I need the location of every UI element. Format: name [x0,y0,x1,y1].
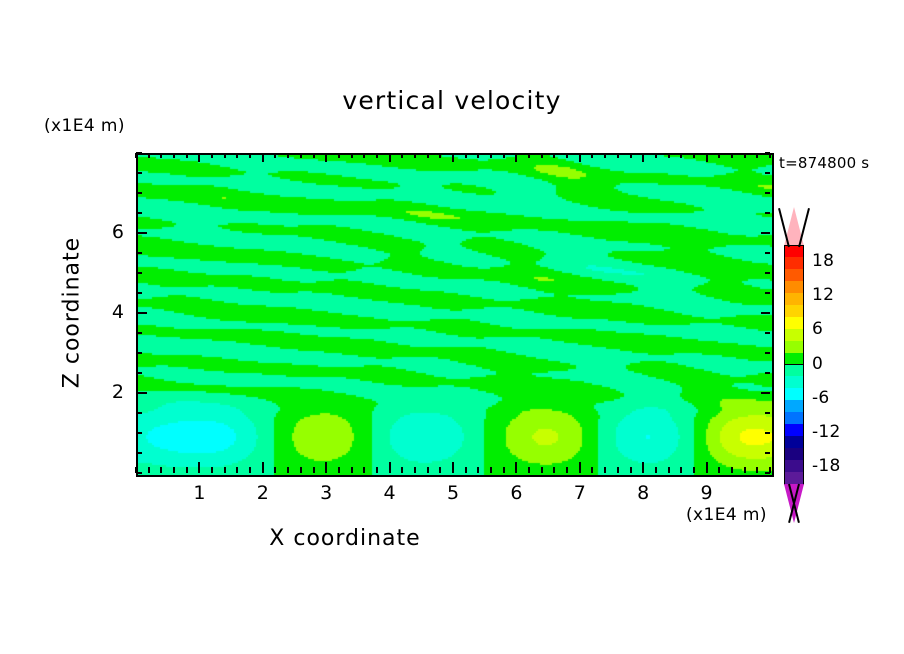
x-minor-tick [186,467,188,473]
x-minor-tick [173,467,175,473]
x-minor-tick [718,467,720,473]
x-minor-tick-top [744,153,746,158]
y-minor-tick [136,252,142,254]
x-minor-tick [274,467,276,473]
page-title: vertical velocity [0,86,904,115]
x-minor-tick [338,467,340,473]
x-minor-tick-top [617,153,619,158]
x-minor-tick-top [427,153,429,158]
x-minor-tick [553,467,555,473]
x-minor-tick-top [477,153,479,158]
y-major-tick-right [761,392,770,394]
x-minor-tick-top [211,153,213,158]
x-minor-tick [300,467,302,473]
y-minor-tick-right [765,272,770,274]
y-minor-tick [136,332,142,334]
x-major-tick [452,462,454,473]
y-minor-tick-right [765,192,770,194]
x-minor-tick [680,467,682,473]
x-tick-label: 6 [501,482,531,504]
y-minor-tick-right [765,212,770,214]
x-minor-tick [351,467,353,473]
y-minor-tick-right [765,412,770,414]
y-minor-tick-right [765,252,770,254]
y-minor-tick-right [765,292,770,294]
y-minor-tick [136,432,142,434]
y-minor-tick-right [765,472,770,474]
x-major-tick [389,462,391,473]
x-minor-tick-top [503,153,505,158]
x-major-tick [579,462,581,473]
y-minor-tick-right [765,372,770,374]
x-minor-tick-top [224,153,226,158]
y-tick-label: 6 [94,221,124,243]
y-minor-tick [136,192,142,194]
x-minor-tick [630,467,632,473]
x-tick-label: 5 [438,482,468,504]
y-axis-title: Z coordinate [60,223,85,403]
x-minor-tick-top [541,153,543,158]
y-tick-label: 2 [94,381,124,403]
x-minor-tick-top [160,153,162,158]
x-major-tick [642,462,644,473]
colorbar-tick-label: -12 [812,422,841,442]
x-minor-tick-top [313,153,315,158]
x-minor-tick [427,467,429,473]
x-major-tick-top [579,153,581,162]
x-minor-tick-top [439,153,441,158]
x-minor-tick [655,467,657,473]
x-minor-tick-top [351,153,353,158]
x-axis-unit-label: (x1E4 m) [686,505,767,525]
x-minor-tick-top [680,153,682,158]
x-major-tick-top [198,153,200,162]
x-minor-tick [604,467,606,473]
x-minor-tick [414,467,416,473]
figure-canvas: vertical velocity (x1E4 m) (x1E4 m) t=87… [0,0,904,654]
plot-area [136,153,774,477]
x-minor-tick [211,467,213,473]
x-minor-tick-top [630,153,632,158]
x-minor-tick [744,467,746,473]
x-major-tick-top [452,153,454,162]
x-minor-tick-top [148,153,150,158]
x-major-tick-top [262,153,264,162]
colorbar-tick-label: -18 [812,456,841,476]
x-minor-tick-top [756,153,758,158]
x-tick-label: 1 [184,482,214,504]
x-tick-label: 7 [565,482,595,504]
x-minor-tick-top [604,153,606,158]
y-minor-tick [136,152,142,154]
x-major-tick-top [706,153,708,162]
x-major-tick-top [642,153,644,162]
x-minor-tick [490,467,492,473]
y-minor-tick [136,472,142,474]
x-minor-tick-top [376,153,378,158]
y-axis-unit-label: (x1E4 m) [44,116,125,136]
y-minor-tick [136,352,142,354]
x-minor-tick [401,467,403,473]
timestamp-annotation: t=874800 s [779,154,869,172]
x-minor-tick-top [414,153,416,158]
x-minor-tick-top [338,153,340,158]
y-minor-tick [136,372,142,374]
x-minor-tick [148,467,150,473]
x-minor-tick [465,467,467,473]
x-minor-tick-top [693,153,695,158]
x-minor-tick-top [655,153,657,158]
x-major-tick [515,462,517,473]
x-tick-label: 3 [311,482,341,504]
y-minor-tick [136,452,142,454]
x-minor-tick [313,467,315,473]
y-minor-tick-right [765,172,770,174]
x-minor-tick [160,467,162,473]
x-minor-tick-top [300,153,302,158]
x-minor-tick [376,467,378,473]
x-minor-tick [439,467,441,473]
y-tick-label: 4 [94,301,124,323]
x-minor-tick [731,467,733,473]
y-minor-tick [136,172,142,174]
y-minor-tick [136,292,142,294]
x-minor-tick-top [465,153,467,158]
colorbar-tick-label: 18 [812,251,834,271]
colorbar-tick-label: 6 [812,319,823,339]
x-minor-tick [756,467,758,473]
x-tick-label: 9 [692,482,722,504]
x-minor-tick-top [718,153,720,158]
y-major-tick [136,312,147,314]
x-minor-tick [363,467,365,473]
x-minor-tick-top [553,153,555,158]
x-minor-tick [236,467,238,473]
x-minor-tick [528,467,530,473]
x-minor-tick [668,467,670,473]
x-major-tick [198,462,200,473]
y-minor-tick-right [765,152,770,154]
y-major-tick-right [761,232,770,234]
x-major-tick [706,462,708,473]
y-major-tick [136,232,147,234]
y-minor-tick-right [765,352,770,354]
x-minor-tick-top [668,153,670,158]
x-major-tick-top [325,153,327,162]
x-major-tick-top [389,153,391,162]
x-major-tick [325,462,327,473]
x-minor-tick-top [363,153,365,158]
x-minor-tick-top [186,153,188,158]
x-minor-tick-top [566,153,568,158]
y-minor-tick-right [765,332,770,334]
x-tick-label: 8 [628,482,658,504]
x-minor-tick [287,467,289,473]
x-minor-tick-top [490,153,492,158]
x-minor-tick-top [236,153,238,158]
x-major-tick [262,462,264,473]
x-minor-tick [693,467,695,473]
x-minor-tick [503,467,505,473]
colorbar-tick-label: 0 [812,354,823,374]
x-tick-label: 2 [248,482,278,504]
x-minor-tick-top [401,153,403,158]
x-minor-tick-top [591,153,593,158]
x-minor-tick-top [173,153,175,158]
x-minor-tick-top [287,153,289,158]
x-minor-tick [224,467,226,473]
x-minor-tick [591,467,593,473]
y-minor-tick [136,412,142,414]
x-minor-tick [541,467,543,473]
y-minor-tick-right [765,432,770,434]
x-minor-tick-top [274,153,276,158]
x-minor-tick-top [249,153,251,158]
y-minor-tick [136,212,142,214]
x-minor-tick [477,467,479,473]
x-major-tick-top [515,153,517,162]
y-major-tick-right [761,312,770,314]
x-minor-tick-top [731,153,733,158]
x-minor-tick-top [528,153,530,158]
x-minor-tick [617,467,619,473]
x-tick-label: 4 [375,482,405,504]
colorbar [784,245,804,484]
x-axis-title: X coordinate [0,526,690,551]
x-minor-tick [249,467,251,473]
colorbar-tick-label: -6 [812,388,830,408]
x-minor-tick [566,467,568,473]
contour-field [138,155,772,475]
y-minor-tick [136,272,142,274]
y-major-tick [136,392,147,394]
y-minor-tick-right [765,452,770,454]
colorbar-tick-label: 12 [812,285,834,305]
